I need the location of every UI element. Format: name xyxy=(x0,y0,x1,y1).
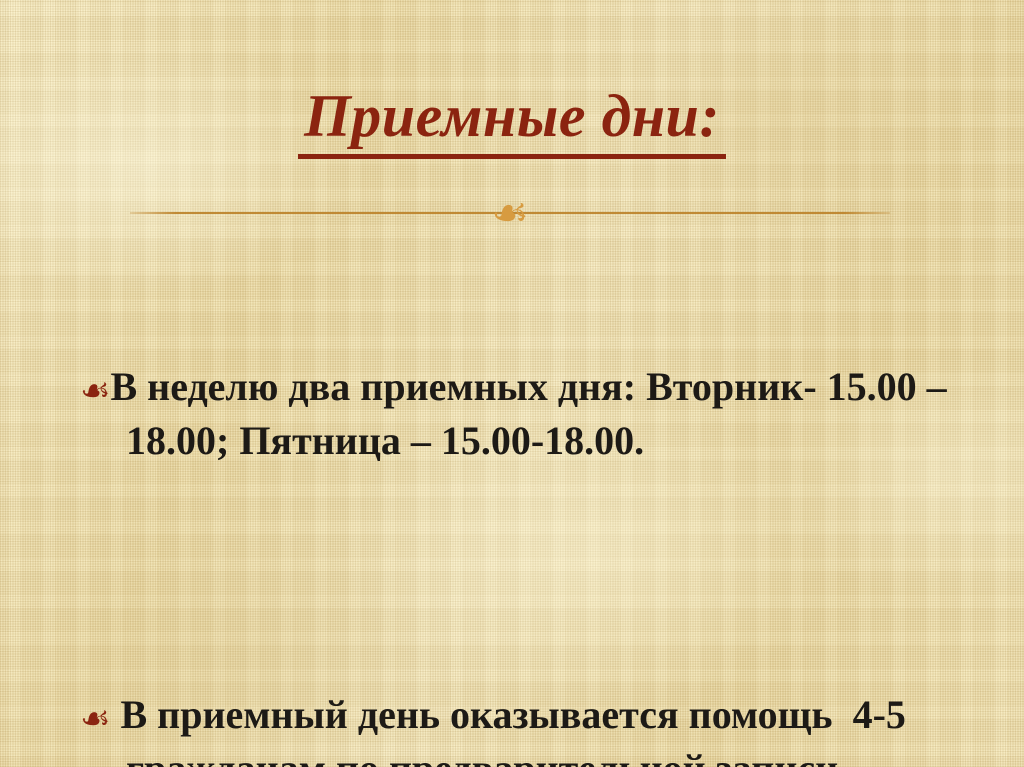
body-bullet-list: ☙В неделю два приемных дня: Вторник- 15.… xyxy=(80,262,960,767)
list-item: ☙В неделю два приемных дня: Вторник- 15.… xyxy=(80,262,960,566)
list-item: ☙ В приемный день оказывается помощь 4-5… xyxy=(80,590,960,767)
presentation-slide: Приемные дни: ☙ ☙В неделю два приемных д… xyxy=(0,0,1024,767)
slide-content: Приемные дни: ☙ ☙В неделю два приемных д… xyxy=(0,0,1024,767)
floral-ornament-icon: ☙ xyxy=(479,192,541,234)
slide-title: Приемные дни: xyxy=(298,86,726,159)
floral-bullet-icon: ☙ xyxy=(80,699,110,739)
floral-bullet-icon: ☙ xyxy=(80,371,110,411)
title-block: Приемные дни: xyxy=(0,86,1024,159)
bullet-text: В приемный день оказывается помощь 4-5 г… xyxy=(110,692,915,767)
decorative-divider: ☙ xyxy=(130,196,890,232)
bullet-line-group: ☙В неделю два приемных дня: Вторник- 15.… xyxy=(80,362,960,466)
bullet-text: В неделю два приемных дня: Вторник- 15.0… xyxy=(110,364,956,463)
bullet-line-group: ☙ В приемный день оказывается помощь 4-5… xyxy=(80,690,960,767)
